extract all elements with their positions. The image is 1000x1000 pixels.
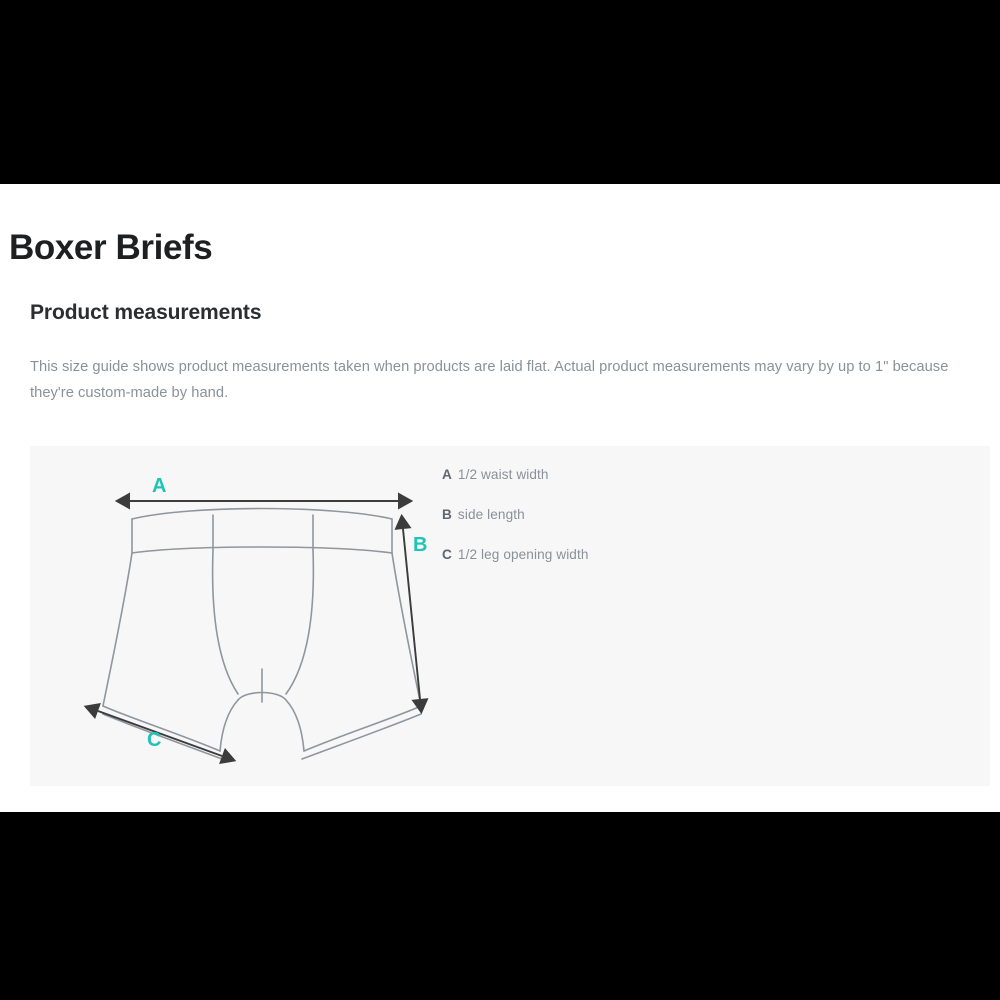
marker-label-a: A: [152, 475, 166, 497]
dimension-arrows: [98, 501, 420, 756]
page-title: Boxer Briefs: [9, 230, 212, 265]
legend-key-a: A: [442, 468, 452, 482]
legend-label-c: 1/2 leg opening width: [458, 548, 589, 562]
marker-label-b: B: [413, 534, 427, 556]
legend-label-b: side length: [458, 508, 525, 522]
letterbox-bottom: [0, 812, 1000, 1000]
boxer-briefs-diagram: A B C: [70, 456, 470, 776]
garment-outline: [103, 509, 421, 760]
intro-paragraph: This size guide shows product measuremen…: [30, 354, 992, 406]
legend-label-a: 1/2 waist width: [458, 468, 549, 482]
marker-label-c: C: [147, 729, 161, 751]
legend-key-c: C: [442, 548, 452, 562]
measurement-diagram-panel: A B C A 1/2 waist width B side length C …: [30, 446, 990, 786]
legend-item-a: A 1/2 waist width: [442, 468, 862, 508]
legend-key-b: B: [442, 508, 452, 522]
legend-item-c: C 1/2 leg opening width: [442, 548, 862, 588]
legend-item-b: B side length: [442, 508, 862, 548]
section-title: Product measurements: [30, 302, 261, 323]
size-guide-page: Boxer Briefs Product measurements This s…: [0, 184, 1000, 812]
measurement-legend: A 1/2 waist width B side length C 1/2 le…: [442, 468, 862, 588]
letterbox-top: [0, 0, 1000, 184]
